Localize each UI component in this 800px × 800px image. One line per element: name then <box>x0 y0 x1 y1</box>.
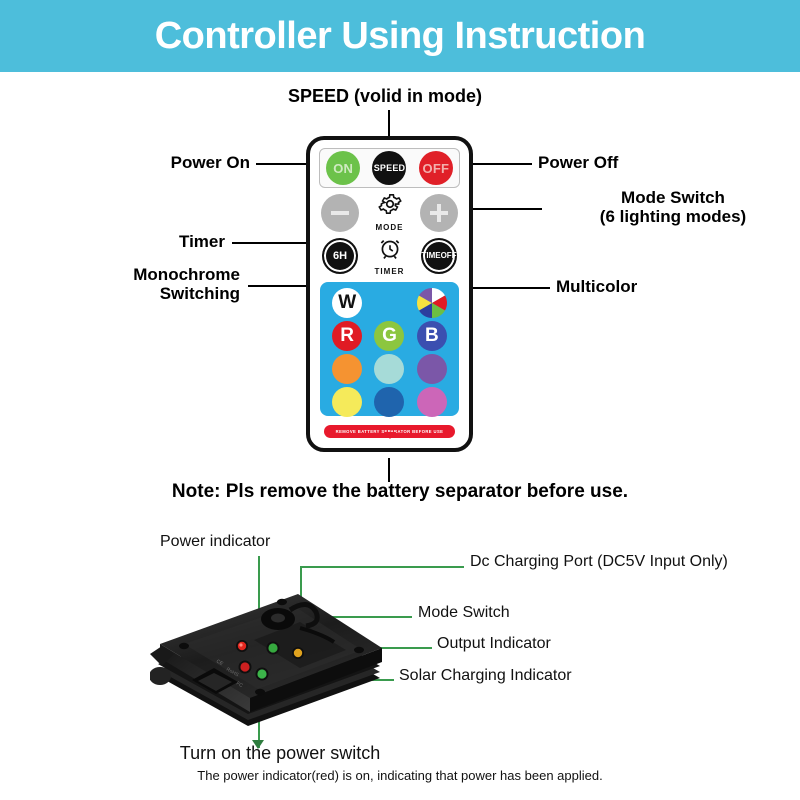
page-title: Controller Using Instruction <box>155 15 646 58</box>
color-cell <box>370 387 408 417</box>
plus-icon <box>429 203 449 223</box>
timer-label: TIMER <box>365 267 415 276</box>
callout-mode-switch-device: Mode Switch <box>418 604 510 622</box>
minus-icon <box>331 211 349 215</box>
white-button[interactable]: W <box>332 288 362 318</box>
cyan-button[interactable] <box>374 354 404 384</box>
blue-button[interactable]: B <box>417 321 447 351</box>
color-cell <box>370 354 408 384</box>
orange-button[interactable] <box>332 354 362 384</box>
color-cell: G <box>370 321 408 351</box>
color-button-pad: WRGB <box>320 282 459 416</box>
time-off-label-line2: OFF <box>441 252 457 260</box>
callout-timer: Timer <box>60 232 225 251</box>
mode-button-row: MODE <box>319 192 460 236</box>
mode-label: MODE <box>367 223 413 232</box>
multicolor-wheel-icon <box>417 288 447 318</box>
plus-button[interactable] <box>420 194 458 232</box>
leader-multicolor <box>462 287 550 289</box>
red-button[interactable]: R <box>332 321 362 351</box>
callout-multicolor: Multicolor <box>556 277 786 296</box>
six-hour-timer-button[interactable]: 6H <box>322 238 358 274</box>
timer-button-row: 6H TIMER TIME OFF <box>319 237 460 279</box>
power-off-button[interactable]: OFF <box>419 151 453 185</box>
color-button-grid: WRGB <box>328 288 451 410</box>
callout-speed: SPEED (volid in mode) <box>245 86 525 106</box>
speed-button[interactable]: SPEED <box>372 151 406 185</box>
minus-button[interactable] <box>321 194 359 232</box>
color-cell: B <box>413 321 451 351</box>
battery-separator-tab[interactable]: REMOVE BATTERY SEPARATOR BEFORE USE <box>324 425 455 438</box>
leader-timer <box>232 242 316 244</box>
time-off-button[interactable]: TIME OFF <box>421 238 457 274</box>
leader-mode-switch <box>462 208 542 210</box>
multicolor-wheel-button[interactable] <box>417 288 447 318</box>
color-cell <box>328 387 366 417</box>
mode-icon-group[interactable]: MODE <box>367 191 413 232</box>
green-button[interactable]: G <box>374 321 404 351</box>
leader-note <box>388 458 390 482</box>
separator-arrow-icon <box>384 432 396 439</box>
time-off-label-line1: TIME <box>421 252 440 260</box>
darkblue-button[interactable] <box>374 387 404 417</box>
alarm-clock-icon <box>377 235 403 261</box>
timer-icon-group: TIMER <box>365 235 415 276</box>
color-cell <box>328 354 366 384</box>
callout-dc-charging-port: Dc Charging Port (DC5V Input Only) <box>470 553 728 571</box>
callout-power-off: Power Off <box>538 153 778 172</box>
yellow-button[interactable] <box>332 387 362 417</box>
instruction-page: Controller Using Instruction SPEED (voli… <box>0 0 800 800</box>
power-indicator-footnote: The power indicator(red) is on, indicati… <box>0 768 800 783</box>
power-on-button[interactable]: ON <box>326 151 360 185</box>
power-button-row: ON SPEED OFF <box>319 148 460 188</box>
pink-button[interactable] <box>417 387 447 417</box>
turn-on-power-switch-text: Turn on the power switch <box>0 743 560 764</box>
callout-monochrome: Monochrome Switching <box>45 265 240 303</box>
page-header: Controller Using Instruction <box>0 0 800 72</box>
callout-power-indicator: Power indicator <box>160 533 270 551</box>
note-text: Note: Pls remove the battery separator b… <box>0 481 800 503</box>
solar-controller-device: CE RoHS FC <box>150 558 400 743</box>
purple-button[interactable] <box>417 354 447 384</box>
color-cell <box>413 288 451 318</box>
empty-cell <box>370 288 408 318</box>
color-cell <box>413 354 451 384</box>
color-cell <box>413 387 451 417</box>
gear-icon <box>377 191 403 217</box>
color-cell: W <box>328 288 366 318</box>
color-cell: R <box>328 321 366 351</box>
callout-output-indicator: Output Indicator <box>437 635 551 653</box>
callout-power-on: Power On <box>60 153 250 172</box>
remote-control: ON SPEED OFF MODE 6H <box>306 136 473 452</box>
device-illustration: CE RoHS FC <box>150 558 400 743</box>
callout-solar-charging-indicator: Solar Charging Indicator <box>399 667 572 685</box>
callout-mode-switch: Mode Switch (6 lighting modes) <box>548 188 798 226</box>
